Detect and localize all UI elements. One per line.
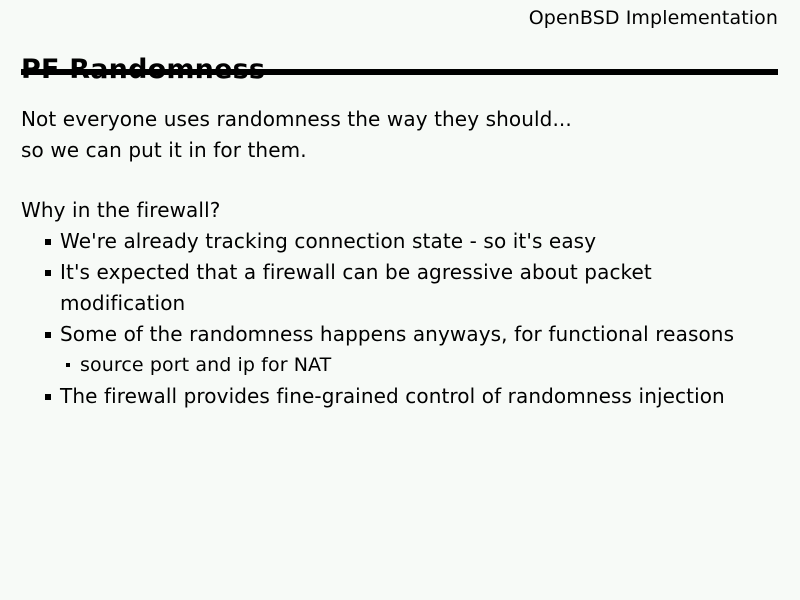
list-item: Some of the randomness happens anyways, … — [21, 319, 780, 381]
list-item-label: Some of the randomness happens anyways, … — [60, 322, 734, 346]
list-item-label: The firewall provides fine-grained contr… — [60, 384, 725, 408]
slide: OpenBSD Implementation PF Randomness Not… — [0, 0, 800, 600]
list-item: We're already tracking connection state … — [21, 226, 780, 257]
sub-list-item-label: source port and ip for NAT — [80, 354, 331, 376]
small-square-bullet-icon — [66, 363, 70, 367]
square-bullet-icon — [45, 239, 51, 245]
slide-content: Not everyone uses randomness the way the… — [21, 104, 780, 412]
square-bullet-icon — [45, 394, 51, 400]
list-item: The firewall provides fine-grained contr… — [21, 381, 780, 412]
list-item-label: It's expected that a firewall can be agr… — [60, 260, 652, 315]
square-bullet-icon — [45, 332, 51, 338]
content-spacer — [21, 166, 780, 195]
list-item: It's expected that a firewall can be agr… — [21, 257, 780, 319]
intro-line-1: Not everyone uses randomness the way the… — [21, 104, 780, 135]
intro-line-2: so we can put it in for them. — [21, 135, 780, 166]
bullet-list: We're already tracking connection state … — [21, 226, 780, 412]
sub-list-item: source port and ip for NAT — [60, 350, 780, 381]
sub-bullet-list: source port and ip for NAT — [60, 350, 780, 381]
title-divider-rule — [21, 69, 778, 75]
section-lead-question: Why in the firewall? — [21, 195, 780, 226]
list-item-label: We're already tracking connection state … — [60, 229, 596, 253]
square-bullet-icon — [45, 270, 51, 276]
slide-header-label: OpenBSD Implementation — [529, 7, 778, 29]
